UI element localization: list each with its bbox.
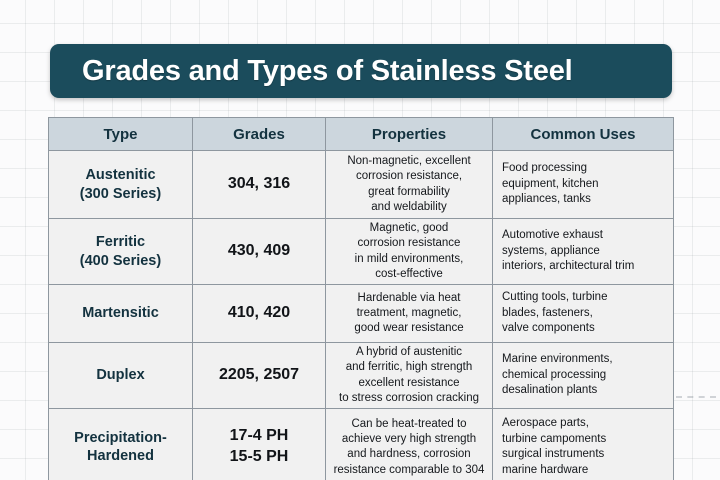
cell-properties: Can be heat-treated toachieve very high …: [326, 409, 493, 480]
cell-properties-line: to stress corrosion cracking: [327, 391, 491, 406]
cell-common-uses-line: appliances, tanks: [502, 192, 667, 208]
cell-common-uses-line: desalination plants: [502, 383, 667, 399]
cell-grades-line: 430, 409: [197, 241, 321, 262]
cell-grades-line: 15-5 PH: [197, 447, 321, 468]
cell-properties-line: A hybrid of austenitic: [327, 345, 491, 360]
cell-properties-line: and weldability: [327, 200, 491, 215]
cell-common-uses-line: systems, appliance: [502, 244, 667, 260]
cell-type-line: (400 Series): [53, 252, 188, 271]
cell-properties-line: Hardenable via heat: [327, 291, 491, 306]
cell-common-uses-line: equipment, kitchen: [502, 177, 667, 193]
cell-properties: Hardenable via heattreatment, magnetic,g…: [326, 285, 493, 343]
cell-properties-line: resistance comparable to 304: [327, 463, 491, 478]
column-header-common-uses: Common Uses: [493, 118, 674, 151]
table-row: Austenitic(300 Series)304, 316Non-magnet…: [49, 151, 674, 219]
cell-properties-line: good wear resistance: [327, 321, 491, 336]
table-header: Type Grades Properties Common Uses: [49, 118, 674, 151]
cell-common-uses: Cutting tools, turbineblades, fasteners,…: [493, 285, 674, 343]
table-row: Martensitic410, 420Hardenable via heattr…: [49, 285, 674, 343]
cell-type: Precipitation-Hardened: [49, 409, 193, 480]
cell-properties: Non-magnetic, excellentcorrosion resista…: [326, 151, 493, 219]
cell-type-line: Martensitic: [53, 304, 188, 323]
cell-type-line: Hardened: [53, 447, 188, 466]
cell-type: Martensitic: [49, 285, 193, 343]
cell-grades: 17-4 PH15-5 PH: [193, 409, 326, 480]
cell-grades-line: 17-4 PH: [197, 426, 321, 447]
cell-properties-line: great formability: [327, 185, 491, 200]
table-row: Ferritic(400 Series)430, 409Magnetic, go…: [49, 219, 674, 285]
cell-type: Duplex: [49, 343, 193, 409]
cell-common-uses: Automotive exhaustsystems, applianceinte…: [493, 219, 674, 285]
cell-common-uses: Aerospace parts,turbine campomentssurgic…: [493, 409, 674, 480]
cell-properties-line: in mild environments,: [327, 252, 491, 267]
cell-common-uses-line: chemical processing: [502, 368, 667, 384]
cell-common-uses-line: Food processing: [502, 161, 667, 177]
cell-common-uses-line: turbine campoments: [502, 432, 667, 448]
cell-type-line: (300 Series): [53, 185, 188, 204]
slide-canvas: Grades and Types of Stainless Steel Type…: [0, 0, 720, 480]
cell-common-uses: Food processingequipment, kitchenapplian…: [493, 151, 674, 219]
cell-type-line: Precipitation-: [53, 429, 188, 448]
cell-properties-line: treatment, magnetic,: [327, 306, 491, 321]
cell-common-uses-line: Aerospace parts,: [502, 416, 667, 432]
cell-common-uses-line: interiors, architectural trim: [502, 259, 667, 275]
cell-common-uses-line: blades, fasteners,: [502, 306, 667, 322]
cell-type: Austenitic(300 Series): [49, 151, 193, 219]
page-title: Grades and Types of Stainless Steel: [82, 55, 572, 88]
cell-common-uses-line: Marine environments,: [502, 352, 667, 368]
table-row: Duplex2205, 2507A hybrid of austenitican…: [49, 343, 674, 409]
cell-type-line: Austenitic: [53, 166, 188, 185]
table-header-row: Type Grades Properties Common Uses: [49, 118, 674, 151]
table-row: Precipitation-Hardened17-4 PH15-5 PHCan …: [49, 409, 674, 480]
cell-grades: 2205, 2507: [193, 343, 326, 409]
cell-properties-line: Can be heat-treated to: [327, 417, 491, 432]
cell-common-uses-line: surgical instruments: [502, 447, 667, 463]
title-banner: Grades and Types of Stainless Steel: [50, 44, 672, 98]
cell-grades-line: 2205, 2507: [197, 365, 321, 386]
column-header-properties: Properties: [326, 118, 493, 151]
cell-type-line: Duplex: [53, 366, 188, 385]
cell-type: Ferritic(400 Series): [49, 219, 193, 285]
cell-properties: Magnetic, goodcorrosion resistancein mil…: [326, 219, 493, 285]
cell-properties-line: achieve very high strength: [327, 432, 491, 447]
cell-grades: 410, 420: [193, 285, 326, 343]
cell-grades-line: 304, 316: [197, 174, 321, 195]
column-header-grades: Grades: [193, 118, 326, 151]
cell-common-uses: Marine environments,chemical processingd…: [493, 343, 674, 409]
cell-grades: 304, 316: [193, 151, 326, 219]
cell-common-uses-line: Cutting tools, turbine: [502, 290, 667, 306]
cell-properties-line: excellent resistance: [327, 376, 491, 391]
cell-common-uses-line: valve components: [502, 321, 667, 337]
cell-grades: 430, 409: [193, 219, 326, 285]
cell-properties-line: corrosion resistance: [327, 236, 491, 251]
cell-properties-line: Magnetic, good: [327, 221, 491, 236]
cell-type-line: Ferritic: [53, 233, 188, 252]
cell-properties: A hybrid of austeniticand ferritic, high…: [326, 343, 493, 409]
grades-table: Type Grades Properties Common Uses Auste…: [48, 117, 674, 480]
cell-properties-line: cost-effective: [327, 267, 491, 282]
cell-properties-line: and ferritic, high strength: [327, 360, 491, 375]
cell-grades-line: 410, 420: [197, 303, 321, 324]
stainless-steel-grades-table: Type Grades Properties Common Uses Auste…: [48, 117, 673, 475]
column-header-type: Type: [49, 118, 193, 151]
cell-properties-line: and hardness, corrosion: [327, 447, 491, 462]
table-body: Austenitic(300 Series)304, 316Non-magnet…: [49, 151, 674, 480]
cell-properties-line: Non-magnetic, excellent: [327, 154, 491, 169]
cell-common-uses-line: marine hardware: [502, 463, 667, 479]
cell-common-uses-line: Automotive exhaust: [502, 228, 667, 244]
cell-properties-line: corrosion resistance,: [327, 169, 491, 184]
